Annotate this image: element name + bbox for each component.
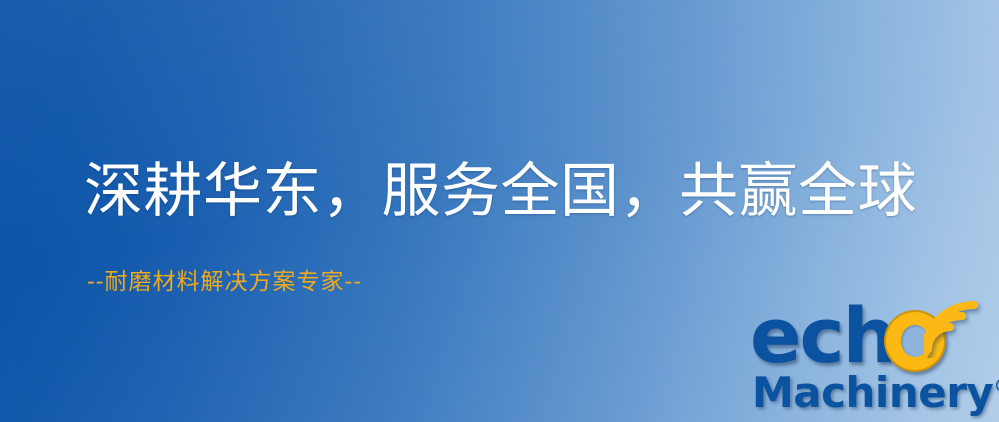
- logo-tagline-text: Machinery: [752, 368, 993, 417]
- company-logo[interactable]: ech: [748, 296, 996, 418]
- banner-subtitle: --耐磨材料解决方案专家--: [87, 267, 362, 297]
- registered-trademark-icon: ®: [993, 375, 999, 397]
- hero-banner: 深耕华东，服务全国，共赢全球 --耐磨材料解决方案专家-- ech: [0, 0, 999, 422]
- logo-tagline: Machinery®: [752, 362, 999, 417]
- signal-waves-icon: [924, 292, 999, 358]
- logo-wordmark: ech: [748, 296, 996, 372]
- banner-headline: 深耕华东，服务全国，共赢全球: [84, 158, 917, 224]
